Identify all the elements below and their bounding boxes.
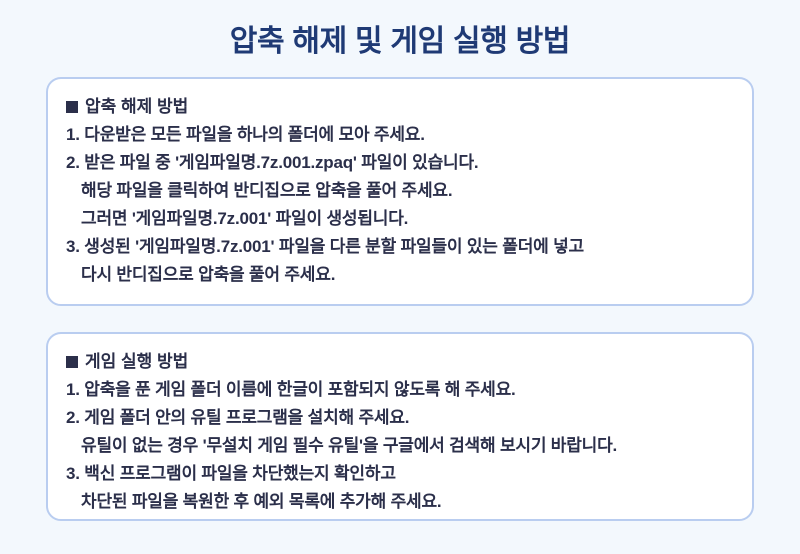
- instruction-line: 3. 백신 프로그램이 파일을 차단했는지 확인하고: [66, 460, 734, 488]
- card-unzip-heading-label: 압축 해제 방법: [85, 93, 188, 121]
- instruction-line: 1. 압축을 푼 게임 폴더 이름에 한글이 포함되지 않도록 해 주세요.: [66, 376, 734, 404]
- card-run-heading-label: 게임 실행 방법: [85, 348, 188, 376]
- page-title: 압축 해제 및 게임 실행 방법: [0, 22, 800, 62]
- card-run-heading: 게임 실행 방법: [66, 348, 734, 376]
- instruction-line: 2. 게임 폴더 안의 유틸 프로그램을 설치해 주세요.: [66, 404, 734, 432]
- instruction-line: 다시 반디집으로 압축을 풀어 주세요.: [66, 261, 734, 289]
- filled-square-bullet-icon: [66, 356, 78, 368]
- card-unzip-instructions: 압축 해제 방법 1. 다운받은 모든 파일을 하나의 폴더에 모아 주세요. …: [46, 77, 754, 306]
- card-run-content: 게임 실행 방법 1. 압축을 푼 게임 폴더 이름에 한글이 포함되지 않도록…: [48, 334, 752, 526]
- instruction-line: 1. 다운받은 모든 파일을 하나의 폴더에 모아 주세요.: [66, 121, 734, 149]
- instruction-line: 해당 파일을 클릭하여 반디집으로 압축을 풀어 주세요.: [66, 177, 734, 205]
- instruction-line: 차단된 파일을 복원한 후 예외 목록에 추가해 주세요.: [66, 488, 734, 516]
- card-unzip-content: 압축 해제 방법 1. 다운받은 모든 파일을 하나의 폴더에 모아 주세요. …: [48, 79, 752, 299]
- card-unzip-heading: 압축 해제 방법: [66, 93, 734, 121]
- instruction-line: 2. 받은 파일 중 '게임파일명.7z.001.zpaq' 파일이 있습니다.: [66, 149, 734, 177]
- card-run-instructions: 게임 실행 방법 1. 압축을 푼 게임 폴더 이름에 한글이 포함되지 않도록…: [46, 332, 754, 521]
- instruction-line: 유틸이 없는 경우 '무설치 게임 필수 유틸'을 구글에서 검색해 보시기 바…: [66, 432, 734, 460]
- instruction-line: 그러면 '게임파일명.7z.001' 파일이 생성됩니다.: [66, 205, 734, 233]
- page-root: 압축 해제 및 게임 실행 방법 압축 해제 방법 1. 다운받은 모든 파일을…: [0, 0, 800, 554]
- instruction-line: 3. 생성된 '게임파일명.7z.001' 파일을 다른 분할 파일들이 있는 …: [66, 233, 734, 261]
- filled-square-bullet-icon: [66, 101, 78, 113]
